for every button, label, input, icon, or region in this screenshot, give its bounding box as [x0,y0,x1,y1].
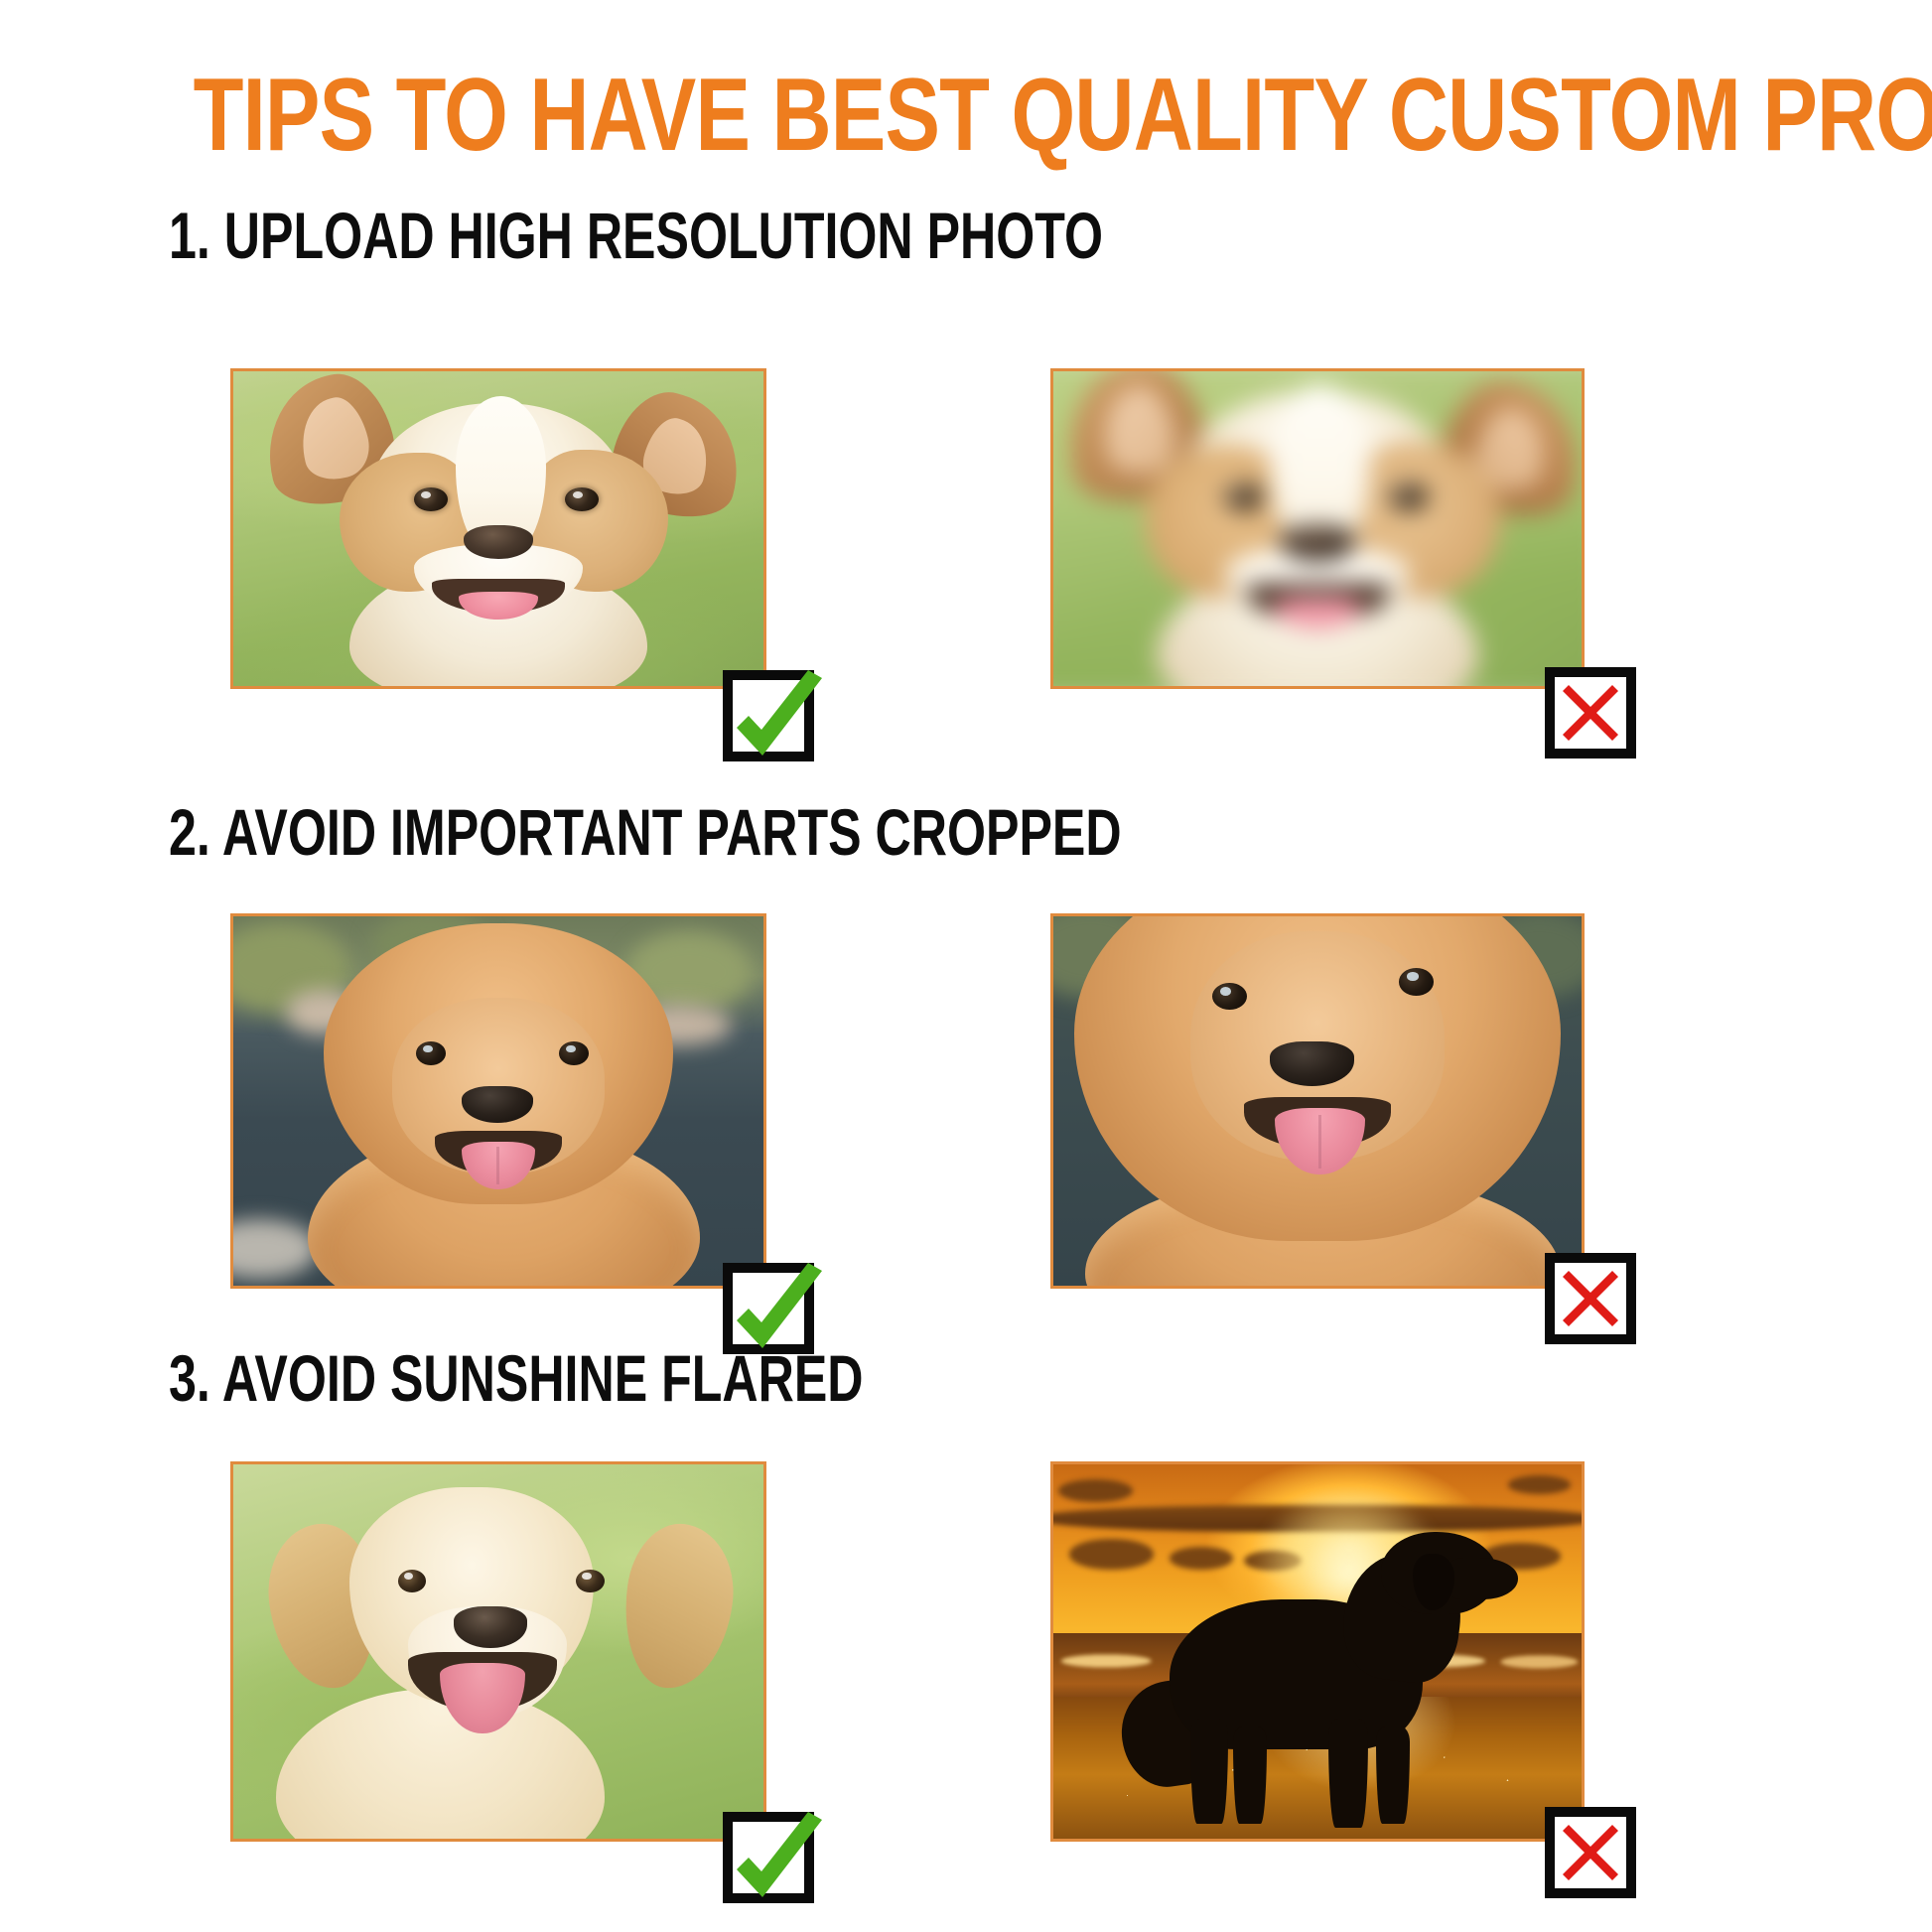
cloud [1058,1479,1132,1502]
green-check-icon [723,670,814,761]
dog-leg [1233,1726,1268,1824]
dog-eye-left [1212,983,1247,1011]
photo-card-2-good[interactable] [230,913,766,1289]
section-heading-1: 1. UPLOAD HIGH RESOLUTION PHOTO [169,203,1103,268]
photo-corgi-sharp [233,371,763,686]
dog-leg [1190,1719,1227,1824]
red-cross-icon [1545,1807,1636,1898]
green-check-icon [723,1263,814,1354]
dog-eye-right [565,487,599,510]
dog-eye-left [1225,484,1262,510]
dog-cavapoo [1053,916,1582,1286]
dog-corgi [233,371,763,686]
photo-card-1-good[interactable] [230,368,766,689]
dog-chest [276,1689,605,1839]
cloud [1170,1547,1233,1570]
photo-sunset-silhouette [1053,1464,1582,1839]
dog-nose [1280,525,1354,561]
dog-corgi [1050,368,1585,689]
photo-card-1-bad[interactable] [1050,368,1585,689]
dog-eye-left [414,487,448,510]
dog-nose [464,525,532,558]
dog-cavapoo [233,916,763,1286]
photo-cavapoo-full [233,916,763,1286]
dog-golden-retriever [233,1464,763,1839]
red-cross-icon [1545,1253,1636,1344]
photo-card-3-bad[interactable] [1050,1461,1585,1842]
dog-eye-right [1390,484,1427,510]
dog-leg [1328,1719,1368,1827]
photo-card-3-good[interactable] [230,1461,766,1842]
section-heading-2: 2. AVOID IMPORTANT PARTS CROPPED [169,799,1122,865]
cloud [1069,1539,1154,1569]
dog-eye-left [398,1570,427,1592]
dog-ear-right [616,1518,741,1695]
red-cross-icon [1545,667,1636,759]
dog-eye-right [559,1041,589,1065]
sunset-scene [1053,1464,1582,1839]
green-check-icon [723,1812,814,1903]
dog-snout-silhouette [1445,1558,1518,1598]
photo-card-2-bad[interactable] [1050,913,1585,1289]
dog-leg [1376,1726,1411,1824]
dog-eye-right [1399,968,1434,996]
photo-cavapoo-cropped [1053,916,1582,1286]
dog-eye-right [576,1570,605,1592]
photo-golden-even-light [233,1464,763,1839]
photo-corgi-blurry [1050,368,1585,689]
page-title: TIPS TO HAVE BEST QUALITY CUSTOM PRODUCT… [194,64,1739,167]
